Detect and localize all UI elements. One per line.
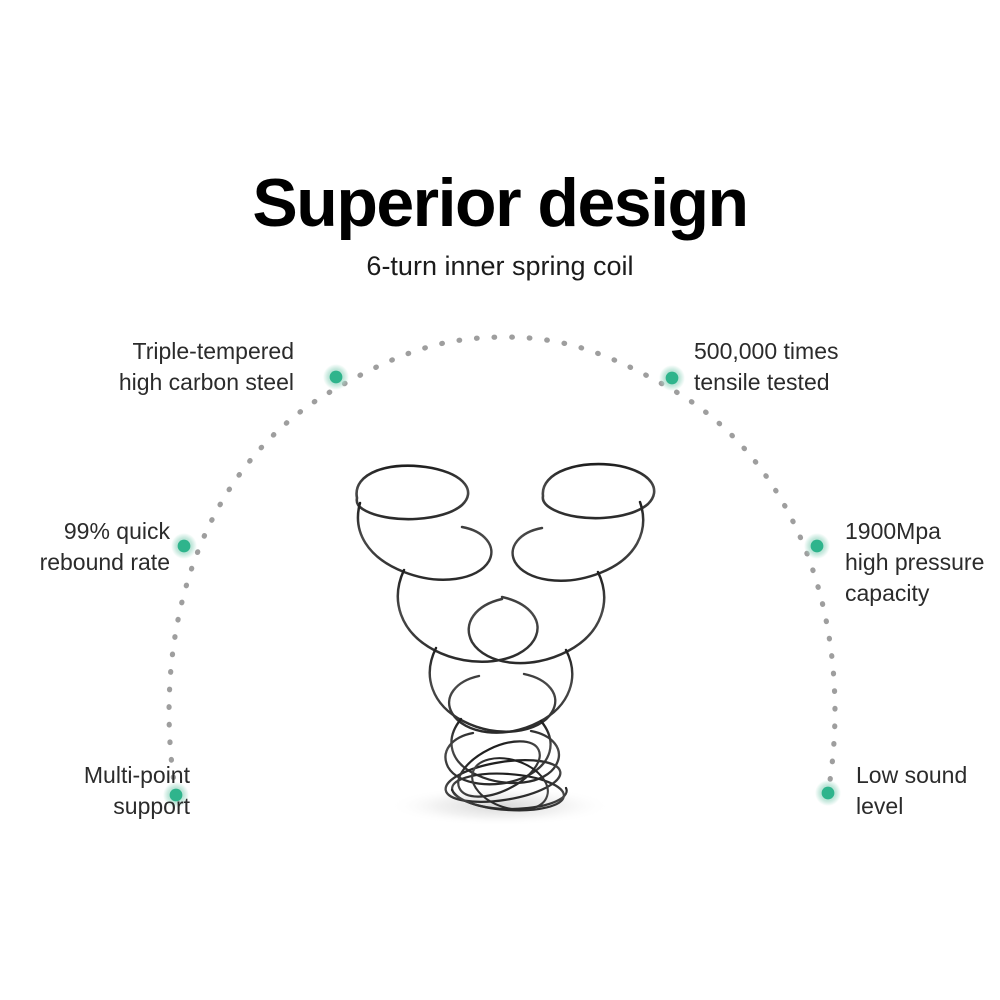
page-subtitle: 6-turn inner spring coil bbox=[0, 250, 1000, 282]
feature-label-pressure-capacity: 1900Mpa high pressure capacity bbox=[845, 516, 984, 609]
callout-node-low-sound[interactable] bbox=[815, 780, 841, 806]
feature-label-triple-tempered: Triple-tempered high carbon steel bbox=[119, 336, 294, 398]
diagram-stage bbox=[0, 0, 1000, 1000]
callout-node-tensile-tested[interactable] bbox=[659, 365, 685, 391]
infographic-page: Superior design 6-turn inner spring coil… bbox=[0, 0, 1000, 1000]
callout-node-triple-tempered[interactable] bbox=[323, 364, 349, 390]
feature-label-tensile-tested: 500,000 times tensile tested bbox=[694, 336, 838, 398]
feature-label-multi-point: Multi-point support bbox=[84, 760, 190, 822]
feature-label-low-sound: Low sound level bbox=[856, 760, 967, 822]
callout-node-rebound-rate[interactable] bbox=[171, 533, 197, 559]
dotted-callout-arc bbox=[169, 337, 835, 795]
page-title: Superior design bbox=[0, 168, 1000, 238]
callout-node-pressure-capacity[interactable] bbox=[804, 533, 830, 559]
feature-label-rebound-rate: 99% quick rebound rate bbox=[40, 516, 170, 578]
spring-coil-graphic bbox=[357, 464, 655, 819]
heading-block: Superior design 6-turn inner spring coil bbox=[0, 168, 1000, 282]
